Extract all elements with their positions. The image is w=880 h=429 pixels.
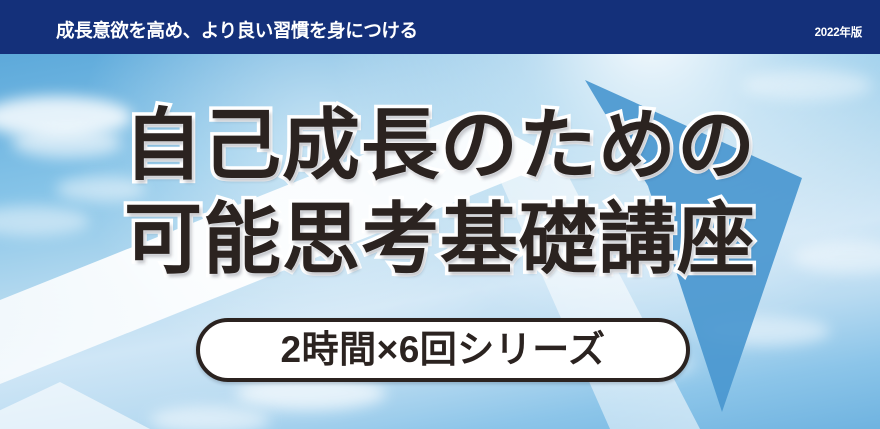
title-line-1: 自己成長のための [0,98,880,192]
header-bar: 成長意欲を高め、より良い習慣を身につける 2022年版 [0,0,880,54]
tagline-text: 成長意欲を高め、より良い習慣を身につける [56,17,418,43]
series-format-badge: 2時間×6回シリーズ [196,318,690,382]
title-line-2: 可能思考基礎講座 [0,192,880,286]
course-promo-banner: 成長意欲を高め、より良い習慣を身につける 2022年版 自己成長のための 可能思… [0,0,880,429]
year-badge: 2022年版 [815,24,862,40]
page-title: 自己成長のための 可能思考基礎講座 [0,98,880,286]
series-format-label: 2時間×6回シリーズ [281,331,606,370]
